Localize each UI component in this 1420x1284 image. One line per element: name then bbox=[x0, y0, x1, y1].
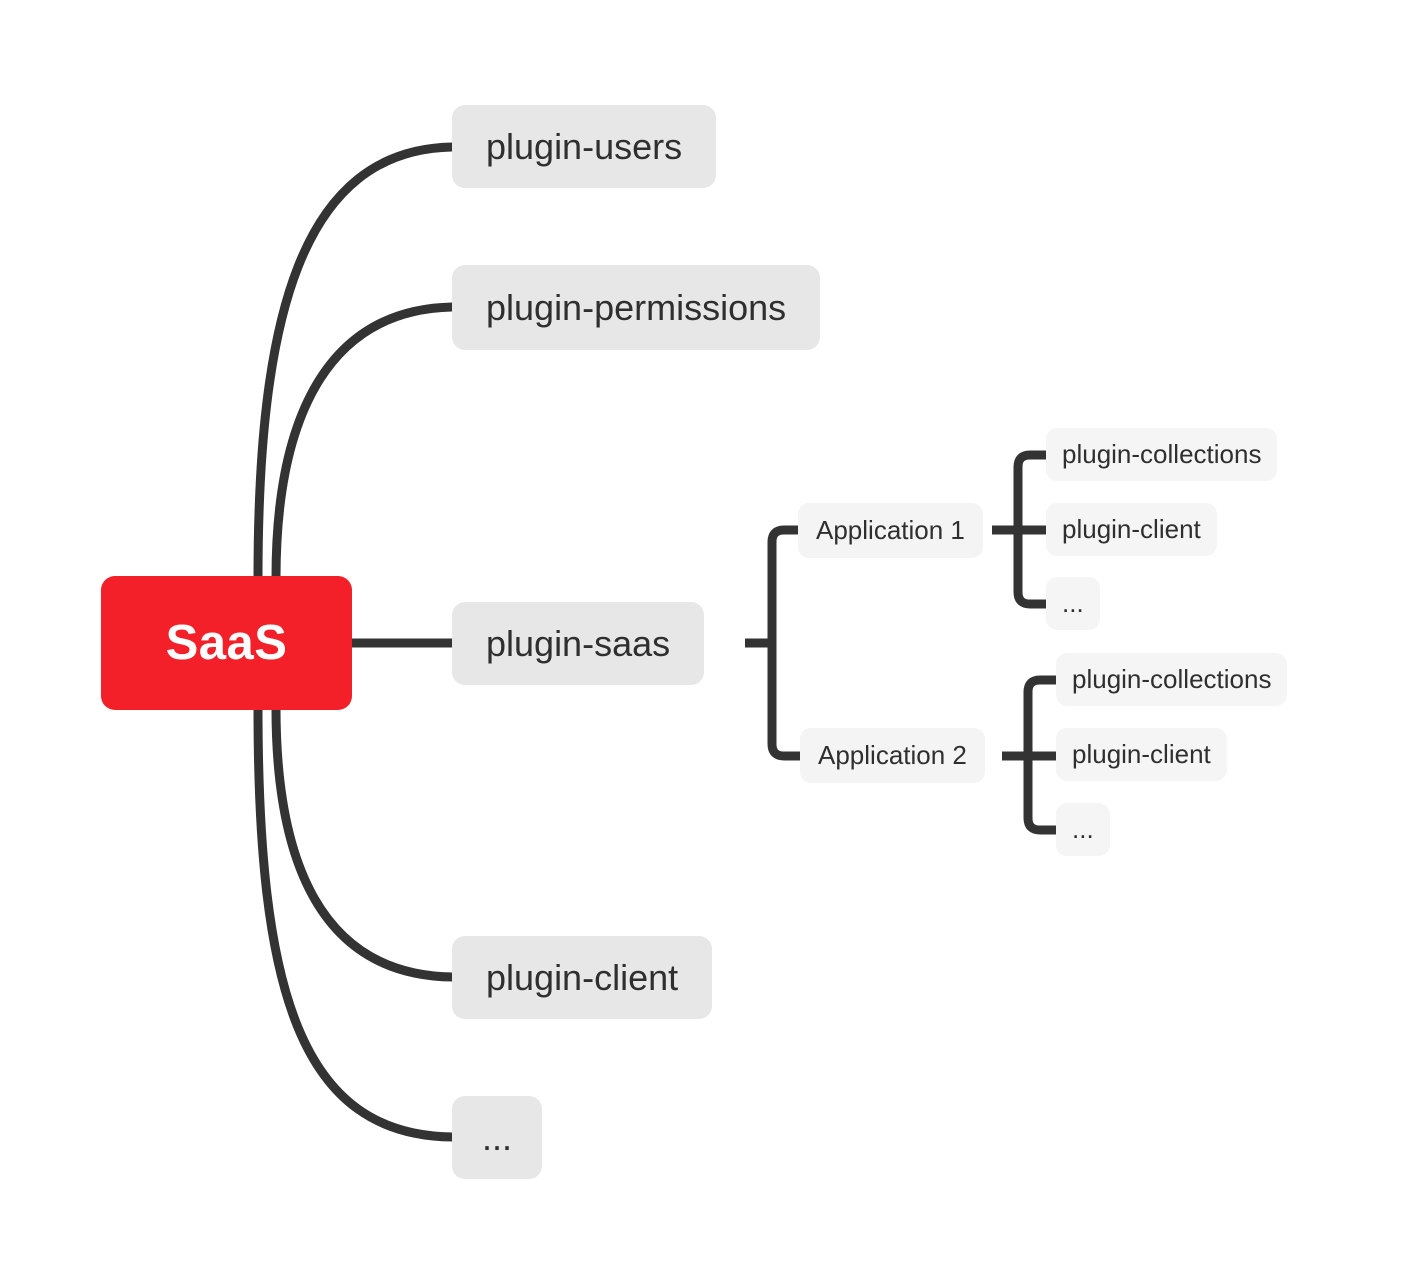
edge-root-to-plugin-users bbox=[258, 147, 452, 578]
node-plugin-client[interactable]: plugin-client bbox=[452, 936, 712, 1019]
node-plugin-saas-label: plugin-saas bbox=[486, 623, 670, 665]
edge-application-2-to-children bbox=[1028, 680, 1056, 830]
edge-root-to-plugin-permissions bbox=[276, 307, 452, 578]
node-app1-ellipsis[interactable]: ... bbox=[1046, 577, 1100, 630]
node-app1-plugin-collections[interactable]: plugin-collections bbox=[1046, 428, 1277, 481]
node-plugin-client-label: plugin-client bbox=[486, 957, 678, 999]
edge-application-1-to-children bbox=[1018, 455, 1046, 604]
node-application-2[interactable]: Application 2 bbox=[800, 728, 985, 783]
node-app2-ellipsis-label: ... bbox=[1072, 814, 1094, 845]
node-app1-ellipsis-label: ... bbox=[1062, 588, 1084, 619]
edge-plugin-saas-to-applications bbox=[772, 530, 800, 756]
node-plugin-permissions-label: plugin-permissions bbox=[486, 287, 786, 329]
node-app2-plugin-collections[interactable]: plugin-collections bbox=[1056, 653, 1287, 706]
node-ellipsis-root[interactable]: ... bbox=[452, 1096, 542, 1179]
node-application-1-label: Application 1 bbox=[816, 515, 965, 546]
node-plugin-permissions[interactable]: plugin-permissions bbox=[452, 265, 820, 350]
node-app1-plugin-client-label: plugin-client bbox=[1062, 514, 1201, 545]
node-application-2-label: Application 2 bbox=[818, 740, 967, 771]
node-app2-ellipsis[interactable]: ... bbox=[1056, 803, 1110, 856]
node-app2-plugin-client[interactable]: plugin-client bbox=[1056, 728, 1227, 781]
node-app1-plugin-client[interactable]: plugin-client bbox=[1046, 503, 1217, 556]
edge-root-to-plugin-client bbox=[276, 708, 452, 977]
edge-root-to-ellipsis bbox=[258, 708, 452, 1137]
root-node-saas[interactable]: SaaS bbox=[101, 576, 352, 710]
node-ellipsis-root-label: ... bbox=[482, 1117, 512, 1159]
mindmap-canvas: SaaS plugin-users plugin-permissions plu… bbox=[0, 0, 1420, 1284]
node-application-1[interactable]: Application 1 bbox=[798, 503, 983, 558]
node-app1-plugin-collections-label: plugin-collections bbox=[1062, 439, 1261, 470]
node-plugin-users-label: plugin-users bbox=[486, 126, 682, 168]
node-plugin-users[interactable]: plugin-users bbox=[452, 105, 716, 188]
node-app2-plugin-client-label: plugin-client bbox=[1072, 739, 1211, 770]
node-plugin-saas[interactable]: plugin-saas bbox=[452, 602, 704, 685]
root-node-label: SaaS bbox=[166, 615, 288, 671]
node-app2-plugin-collections-label: plugin-collections bbox=[1072, 664, 1271, 695]
